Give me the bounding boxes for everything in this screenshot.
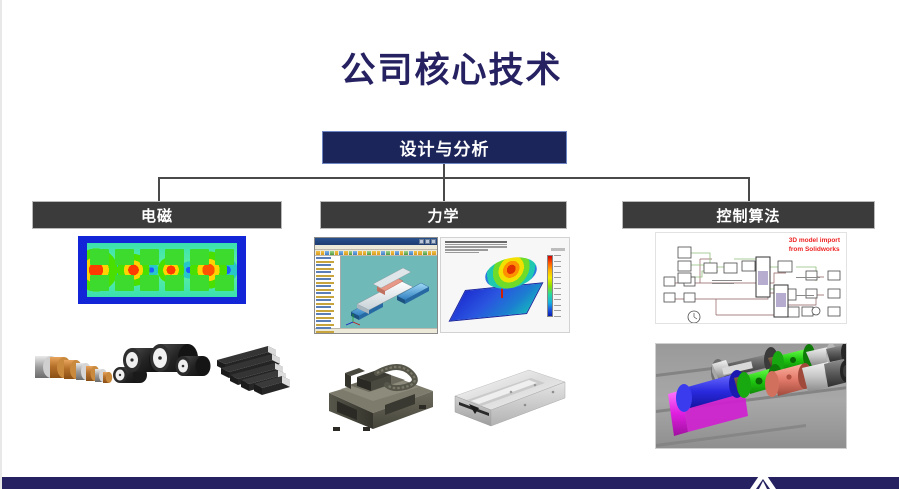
category-header-mechanics[interactable]: 力学 (320, 201, 567, 229)
connector-stem (443, 164, 445, 178)
coil-block (165, 275, 184, 290)
structural-fea-plot (440, 237, 570, 333)
gantry-model-svg (341, 256, 437, 328)
copper-coil-group (35, 356, 112, 383)
linear-motor-bar-group (217, 346, 290, 395)
coil-block (115, 275, 134, 290)
simulink-annotation-line2: from Solidworks (789, 246, 840, 255)
coil-block (140, 249, 159, 264)
coil-block-row-bottom (90, 275, 234, 290)
source-blocks (664, 247, 840, 317)
fea-study-annotation (445, 241, 507, 254)
cad-3d-viewport[interactable] (341, 256, 437, 328)
category-header-electromagnetics-label: 电磁 (141, 205, 173, 226)
connector-drop-left (158, 177, 160, 201)
voice-coil-motor-group (113, 344, 211, 383)
coil-block (215, 275, 234, 290)
granite-machine-base-photo (315, 343, 442, 435)
fea-legend-ticks (553, 255, 563, 317)
sum-junction (812, 307, 820, 315)
connector-drop-right (748, 177, 750, 201)
coil-block (115, 249, 134, 264)
slide-canvas: 公司核心技术 设计与分析 电磁 力学 控制算法 (0, 0, 899, 489)
chevron-logo-svg (750, 470, 776, 489)
page-title: 公司核心技术 (2, 42, 899, 93)
category-header-electromagnetics[interactable]: 电磁 (32, 201, 282, 229)
products-photo-svg (20, 322, 305, 410)
machine-base-svg (315, 343, 442, 435)
cad-body (315, 256, 437, 328)
cad-application-window[interactable] (314, 237, 438, 334)
chevron-logo (750, 470, 776, 489)
coil-block (140, 275, 159, 290)
category-header-control-algorithm[interactable]: 控制算法 (622, 201, 875, 229)
cad-window-titlebar (315, 238, 437, 245)
electromagnetic-fea-plot (78, 236, 246, 304)
coil-block (90, 249, 109, 264)
simulink-annotation: 3D model import from Solidworks (789, 237, 840, 255)
fea-flux-field (87, 243, 237, 297)
coil-block (90, 275, 109, 290)
coil-block-row-top (90, 249, 234, 264)
simmechanics-3d-render (655, 343, 847, 449)
cad-model-tree[interactable] (315, 256, 341, 328)
connector-drop-center (443, 177, 445, 201)
coil-block (190, 275, 209, 290)
simulink-annotation-line1: 3D model import (789, 237, 840, 246)
connector-horizontal (158, 177, 750, 179)
coil-and-magnet-products-photo (20, 322, 305, 410)
render-3d-svg (656, 344, 847, 449)
cad-window-buttons[interactable] (419, 239, 436, 244)
linear-stage-module-photo (445, 352, 573, 436)
fea-legend-title (551, 248, 565, 251)
simulink-block-diagram[interactable]: 3D model import from Solidworks (655, 232, 847, 324)
coil-block (165, 249, 184, 264)
coil-block (190, 249, 209, 264)
node-design-and-analysis-label: 设计与分析 (400, 135, 490, 160)
fea-color-legend (547, 255, 563, 317)
category-header-mechanics-label: 力学 (427, 205, 459, 226)
category-header-control-algorithm-label: 控制算法 (716, 205, 780, 226)
linear-stage-svg (445, 352, 573, 436)
coil-block (215, 249, 234, 264)
node-design-and-analysis[interactable]: 设计与分析 (322, 131, 567, 164)
